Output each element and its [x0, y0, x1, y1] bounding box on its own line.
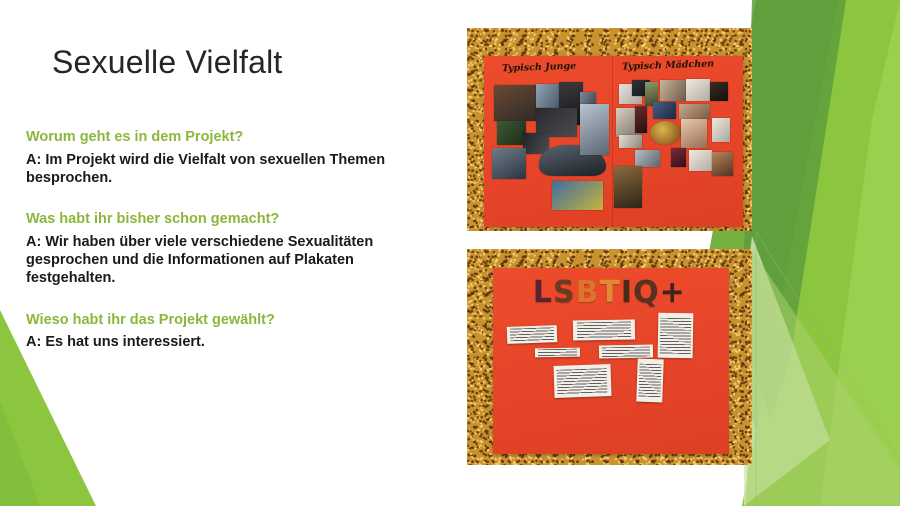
question-1: Worum geht es in dem Projekt?: [26, 128, 444, 147]
collage-cutout: [689, 150, 712, 170]
answer-3: A: Es hat uns interessiert.: [26, 334, 444, 352]
collage-cutout: [686, 79, 709, 101]
collage-cutout: [671, 148, 687, 167]
facet-right-pale-overlay: [744, 236, 830, 506]
collage-cutout: [635, 106, 648, 133]
lsbtiq-letter-s: S: [553, 278, 576, 308]
facet-right-pale-overlay-2: [746, 250, 900, 506]
paper-note: [636, 359, 663, 403]
collage-cutout: [660, 80, 686, 100]
presentation-slide: Sexuelle Vielfalt Worum geht es in dem P…: [0, 0, 900, 506]
paper-note: [599, 344, 654, 358]
facet-right-hairline-facet: [756, 232, 900, 506]
red-poster-sheet: LSBTIQ+: [493, 268, 730, 454]
collage-cutout: [492, 148, 526, 179]
photo-poster-typisch: Typisch Junge Typisch Mädchen: [467, 28, 752, 231]
content-text-block: Worum geht es in dem Projekt? A: Im Proj…: [26, 128, 444, 352]
lsbtiq-letter-q: Q: [633, 278, 660, 308]
paper-note: [507, 325, 557, 343]
paper-note: [573, 320, 635, 341]
qa-group-1: Worum geht es in dem Projekt? A: Im Proj…: [26, 128, 444, 187]
lsbtiq-letter-i: I: [621, 278, 633, 308]
handwriting-typisch-junge: Typisch Junge: [502, 60, 576, 74]
collage-cutout: [679, 104, 710, 119]
paper-note: [658, 313, 694, 358]
lsbtiq-letter-b: B: [576, 278, 600, 308]
answer-1: A: Im Projekt wird die Vielfalt von sexu…: [26, 152, 444, 188]
question-3: Wieso habt ihr das Projekt gewählt?: [26, 311, 444, 330]
red-poster-sheet: Typisch Junge Typisch Mädchen: [484, 56, 743, 227]
collage-cutout: [650, 121, 681, 145]
question-2: Was habt ihr bisher schon gemacht?: [26, 210, 444, 229]
lsbtiq-letter-plus: +: [660, 278, 686, 308]
collage-cutout: [653, 102, 676, 119]
collage-cutout: [712, 118, 730, 142]
collage-cutout: [580, 104, 609, 155]
collage-cutout: [497, 121, 526, 145]
collage-cutout: [494, 85, 538, 121]
collage-cutout: [712, 152, 733, 176]
page-title: Sexuelle Vielfalt: [52, 44, 283, 81]
facet-right-brightgreen: [742, 0, 900, 506]
collage-cutout: [681, 119, 707, 148]
photo-poster-lsbtiq: LSBTIQ+: [467, 249, 752, 465]
paper-note: [554, 364, 612, 398]
qa-group-2: Was habt ihr bisher schon gemacht? A: Wi…: [26, 210, 444, 287]
collage-cutout: [710, 82, 728, 101]
answer-2: A: Wir haben über viele verschiedene Sex…: [26, 234, 444, 288]
collage-cutout: [614, 166, 643, 209]
facet-bottom-left-wedge-dark: [0, 400, 40, 506]
facet-right-lightgreen: [820, 0, 900, 506]
facet-right-darkgreen-wedge: [744, 0, 846, 360]
paper-note: [535, 348, 580, 358]
lsbtiq-heading: LSBTIQ+: [533, 278, 686, 308]
lsbtiq-letter-l: L: [533, 278, 553, 308]
handwriting-typisch-maedchen: Typisch Mädchen: [621, 58, 713, 72]
collage-cutout: [619, 135, 642, 149]
lsbtiq-letter-t: T: [599, 278, 620, 308]
collage-cutout: [552, 181, 604, 210]
qa-group-3: Wieso habt ihr das Projekt gewählt? A: E…: [26, 311, 444, 353]
